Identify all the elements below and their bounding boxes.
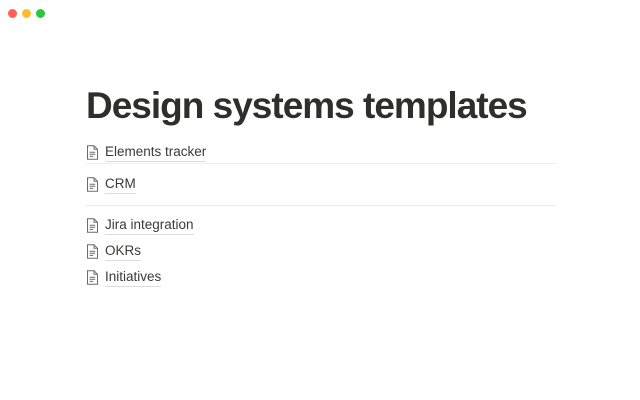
minimize-button[interactable] [22, 9, 31, 18]
close-button[interactable] [8, 9, 17, 18]
list-item-label: CRM [105, 176, 136, 194]
list-item-label: OKRs [105, 243, 141, 261]
document-icon [86, 145, 99, 160]
maximize-button[interactable] [36, 9, 45, 18]
document-icon [86, 218, 99, 233]
list-item[interactable]: OKRs [86, 241, 556, 262]
page-title: Design systems templates [86, 84, 556, 128]
document-list: Elements tracker CRM Jir [86, 142, 556, 288]
page-content: Design systems templates Elements tracke… [86, 84, 556, 288]
list-divider [86, 205, 556, 206]
document-icon [86, 244, 99, 259]
document-icon [86, 177, 99, 192]
list-item-label: Elements tracker [105, 144, 206, 162]
list-item-label: Jira integration [105, 217, 194, 235]
list-item[interactable]: CRM [86, 174, 556, 195]
document-icon [86, 270, 99, 285]
list-item-label: Initiatives [105, 269, 161, 287]
list-item[interactable]: Elements tracker [86, 142, 556, 163]
list-item[interactable]: Initiatives [86, 267, 556, 288]
window-titlebar [0, 0, 640, 26]
list-item[interactable]: Jira integration [86, 215, 556, 236]
list-divider [86, 163, 556, 164]
